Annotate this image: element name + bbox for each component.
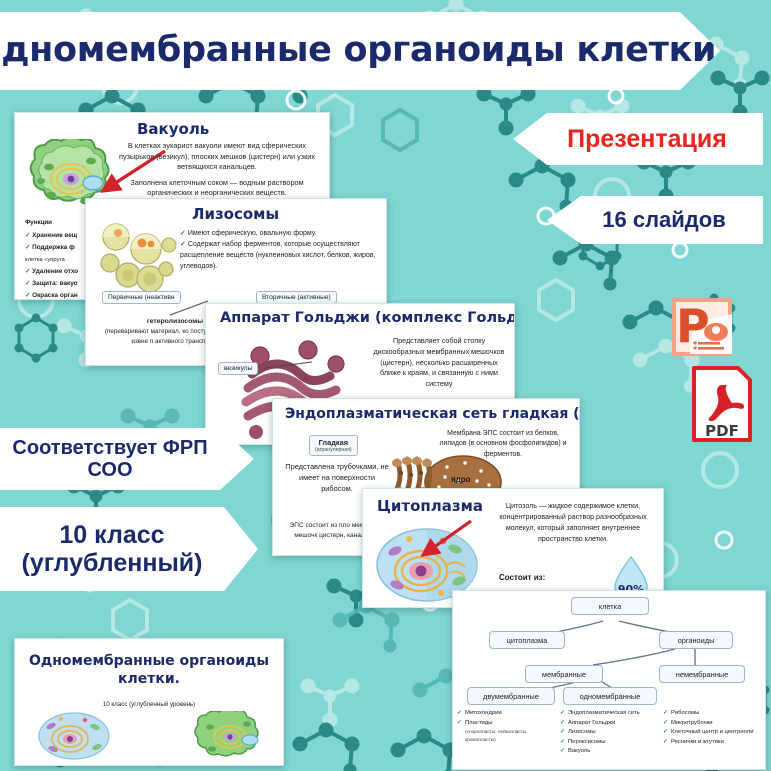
tree-node-organelles: органоиды (659, 631, 733, 649)
list-item: ✓ Реснички и жгутики (663, 738, 763, 748)
pdf-label: PDF (705, 422, 739, 440)
poster-title-banner: Одномембранные органоиды клетки (0, 12, 720, 90)
er-nucleus-label: ядро (451, 475, 471, 484)
list-item: ✓ Микротрубочки (663, 719, 763, 729)
list-item: ✓ Вакуоль (560, 747, 660, 757)
badge-grade-label: 10 класс (углубленный) (0, 521, 258, 577)
list-item: ✓ Пластиды (хлоропласты, лейкопласты, хр… (457, 719, 557, 744)
slide-card-classification[interactable]: клетка цитоплазма органоиды мембранные н… (452, 590, 766, 770)
list-item: ✓ Содержат набор ферментов, которые осущ… (180, 240, 382, 273)
tree-node-double-membrane: двумембранные (467, 687, 555, 705)
powerpoint-icon: P (668, 296, 736, 362)
slide-title-cytoplasm: Цитоплазма (377, 497, 483, 515)
cytoplasm-body: Цитозоль — жидкое содержимое клетки, кон… (489, 501, 657, 545)
list-item: ✓ Эндоплазматическая сеть (560, 709, 660, 719)
er-smooth-label: Гладкая (агранулярная) (309, 435, 358, 456)
lysosomes-bullets: ✓ Имеют сферическую, овальную форму. ✓ С… (180, 229, 382, 272)
tree-node-single-membrane: одномембранные (563, 687, 657, 705)
pdf-icon: PDF (691, 365, 753, 443)
vacuole-body: В клетках эукариот вакуоли имеют вид сфе… (111, 141, 323, 199)
slide-card-title[interactable]: Одномембранные органоиды клетки. 10 клас… (14, 638, 284, 766)
list-item: ✓ Рибосомы (663, 709, 763, 719)
red-arrow-icon (415, 517, 475, 561)
vacuole-functions-heading: Функции (25, 219, 52, 226)
badge-presentation-label: Презентация (549, 125, 727, 153)
badge-presentation: Презентация (513, 113, 763, 165)
connector-line (150, 299, 212, 319)
vacuole-paragraph-1: В клетках эукариот вакуоли имеют вид сфе… (111, 141, 323, 173)
list-item: ✓ Пероксисомы (560, 738, 660, 748)
tree-node-cytoplasm: цитоплазма (489, 631, 565, 649)
cytoplasm-consists-label: Состоит из: (499, 573, 545, 582)
lysosome-vesicles-diagram (94, 223, 178, 297)
slide-title-vacuole: Вакуоль (137, 120, 209, 138)
golgi-vesicles-label: везикулы (218, 362, 258, 375)
connector-line (264, 360, 316, 376)
organelle-columns: ✓ Митохондрии ✓ Пластиды (хлоропласты, л… (457, 709, 763, 757)
badge-standard-label: Соответствует ФРП СОО (0, 437, 254, 482)
column-double-membrane: ✓ Митохондрии ✓ Пластиды (хлоропласты, л… (457, 709, 557, 757)
slide-title-lysosomes: Лизосомы (192, 205, 279, 223)
list-item: ✓ Лизосомы (560, 728, 660, 738)
list-item: ✓ Аппарат Гольджи (560, 719, 660, 729)
plant-cell-diagram (193, 711, 267, 761)
slide-title-er: Эндоплазматическая сеть гладкая (ЭПС) (285, 406, 580, 422)
tree-node-nonmembrane: немембранные (659, 665, 745, 683)
slide-title-golgi: Аппарат Гольджи (комплекс Гольджи) (220, 310, 515, 326)
golgi-body: Представляет собой стопку дискообразных … (372, 336, 506, 390)
tree-node-membrane: мембранные (525, 665, 603, 683)
heterolysosome-title: гетеролизосомы (147, 318, 203, 325)
page-title: Одномембранные органоиды клетки (0, 31, 742, 70)
badge-slide-count: 16 слайдов (547, 196, 763, 244)
badge-standard: Соответствует ФРП СОО (0, 428, 254, 490)
tree-node-cell: клетка (571, 597, 649, 615)
list-item: ✓ Клеточный центр и центриоли (663, 728, 763, 738)
svg-text:P: P (676, 299, 710, 353)
first-slide-subtitle: 10 класс (углубленный уровень) (15, 701, 283, 708)
poster-canvas: Одномембранные органоиды клетки Презента… (0, 0, 771, 771)
vacuole-paragraph-2: Заполнена клеточным соком — водным раств… (111, 178, 323, 199)
badge-slide-count-label: 16 слайдов (584, 208, 725, 233)
column-non-membrane: ✓ Рибосомы ✓ Микротрубочки ✓ Клеточный ц… (663, 709, 763, 757)
list-item: ✓ Имеют сферическую, овальную форму. (180, 229, 382, 240)
badge-grade: 10 класс (углубленный) (0, 507, 258, 591)
animal-cell-diagram (37, 711, 111, 761)
first-slide-title: Одномембранные органоиды клетки. (15, 653, 283, 688)
column-single-membrane: ✓ Эндоплазматическая сеть ✓ Аппарат Голь… (560, 709, 660, 757)
list-item: ✓ Митохондрии (457, 709, 557, 719)
